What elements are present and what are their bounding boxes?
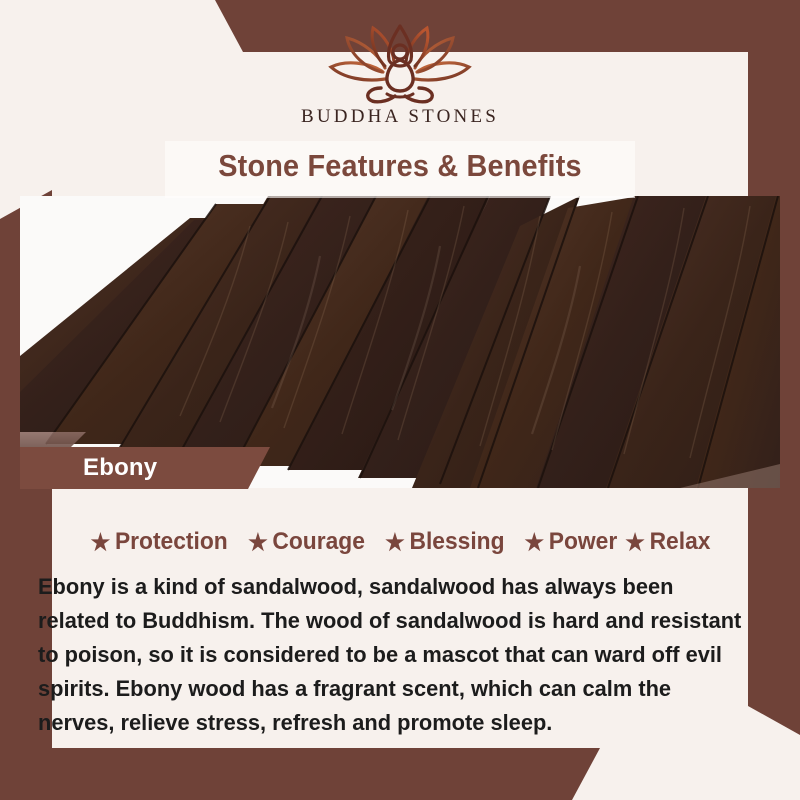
star-icon: ★	[626, 529, 646, 556]
benefit-label: Courage	[273, 528, 365, 556]
brand-name: BUDDHA STONES	[301, 106, 499, 128]
product-label-banner: Ebony	[20, 447, 270, 489]
star-icon: ★	[248, 529, 268, 556]
page-title: Stone Features & Benefits	[28, 148, 772, 184]
description-text: Ebony is a kind of sandalwood, sandalwoo…	[38, 570, 744, 740]
frame-band-bottom	[0, 748, 800, 800]
benefit-item-protection: ★ Protection	[90, 528, 227, 556]
benefit-item-blessing: ★ Blessing	[385, 528, 504, 556]
lotus-meditation-icon	[325, 22, 475, 104]
benefit-item-power: ★ Power	[524, 528, 617, 556]
infographic-card: BUDDHA STONES Stone Features & Benefits	[0, 0, 800, 800]
benefit-label: Protection	[115, 528, 228, 556]
benefit-label: Power	[549, 528, 617, 556]
star-icon: ★	[524, 529, 544, 556]
benefit-label: Relax	[650, 528, 711, 556]
product-label-text: Ebony	[83, 454, 157, 482]
star-icon: ★	[90, 529, 110, 556]
benefit-item-courage: ★ Courage	[248, 528, 365, 556]
star-icon: ★	[385, 529, 405, 556]
benefit-label: Blessing	[410, 528, 505, 556]
benefits-row: ★ Protection ★ Courage ★ Blessing ★ Powe…	[0, 528, 800, 556]
ebony-wood-photo	[20, 196, 780, 488]
benefit-item-relax: ★ Relax	[626, 528, 711, 556]
